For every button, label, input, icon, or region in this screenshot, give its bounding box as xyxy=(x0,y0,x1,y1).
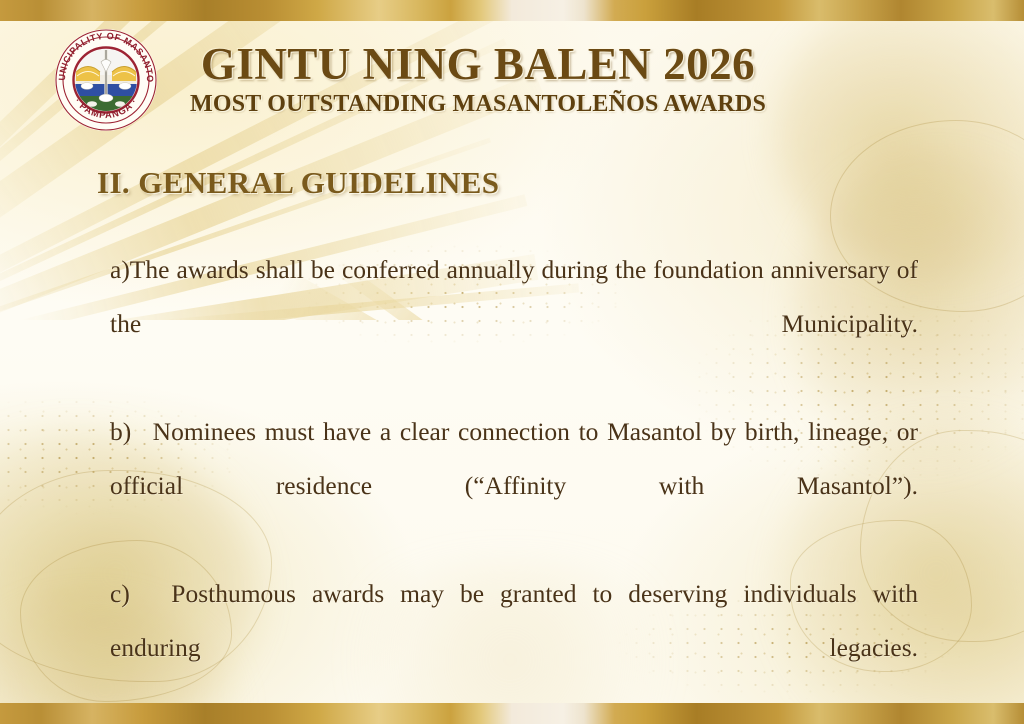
page-title: GINTU NING BALEN 2026 xyxy=(201,42,755,88)
section-heading: II. GENERAL GUIDELINES xyxy=(97,165,499,201)
municipal-seal-logo: MUNICIPALITY OF MASANTOL · PAMPANGA · xyxy=(54,28,158,132)
slide-canvas: MUNICIPALITY OF MASANTOL · PAMPANGA · GI… xyxy=(0,0,1024,724)
slide-header: MUNICIPALITY OF MASANTOL · PAMPANGA · GI… xyxy=(0,24,1024,136)
page-subtitle: MOST OUTSTANDING MASANTOLEÑOS AWARDS xyxy=(190,91,766,117)
guideline-item-b: b) Nominees must have a clear connection… xyxy=(110,405,918,567)
guideline-item-c: c) Posthumous awards may be granted to d… xyxy=(110,567,918,724)
guidelines-list: a)The awards shall be conferred annually… xyxy=(110,243,918,724)
guideline-item-a: a)The awards shall be conferred annually… xyxy=(110,243,918,405)
gold-band-bottom xyxy=(0,703,1024,724)
gold-band-top xyxy=(0,0,1024,21)
title-block: GINTU NING BALEN 2026 MOST OUTSTANDING M… xyxy=(190,42,766,117)
